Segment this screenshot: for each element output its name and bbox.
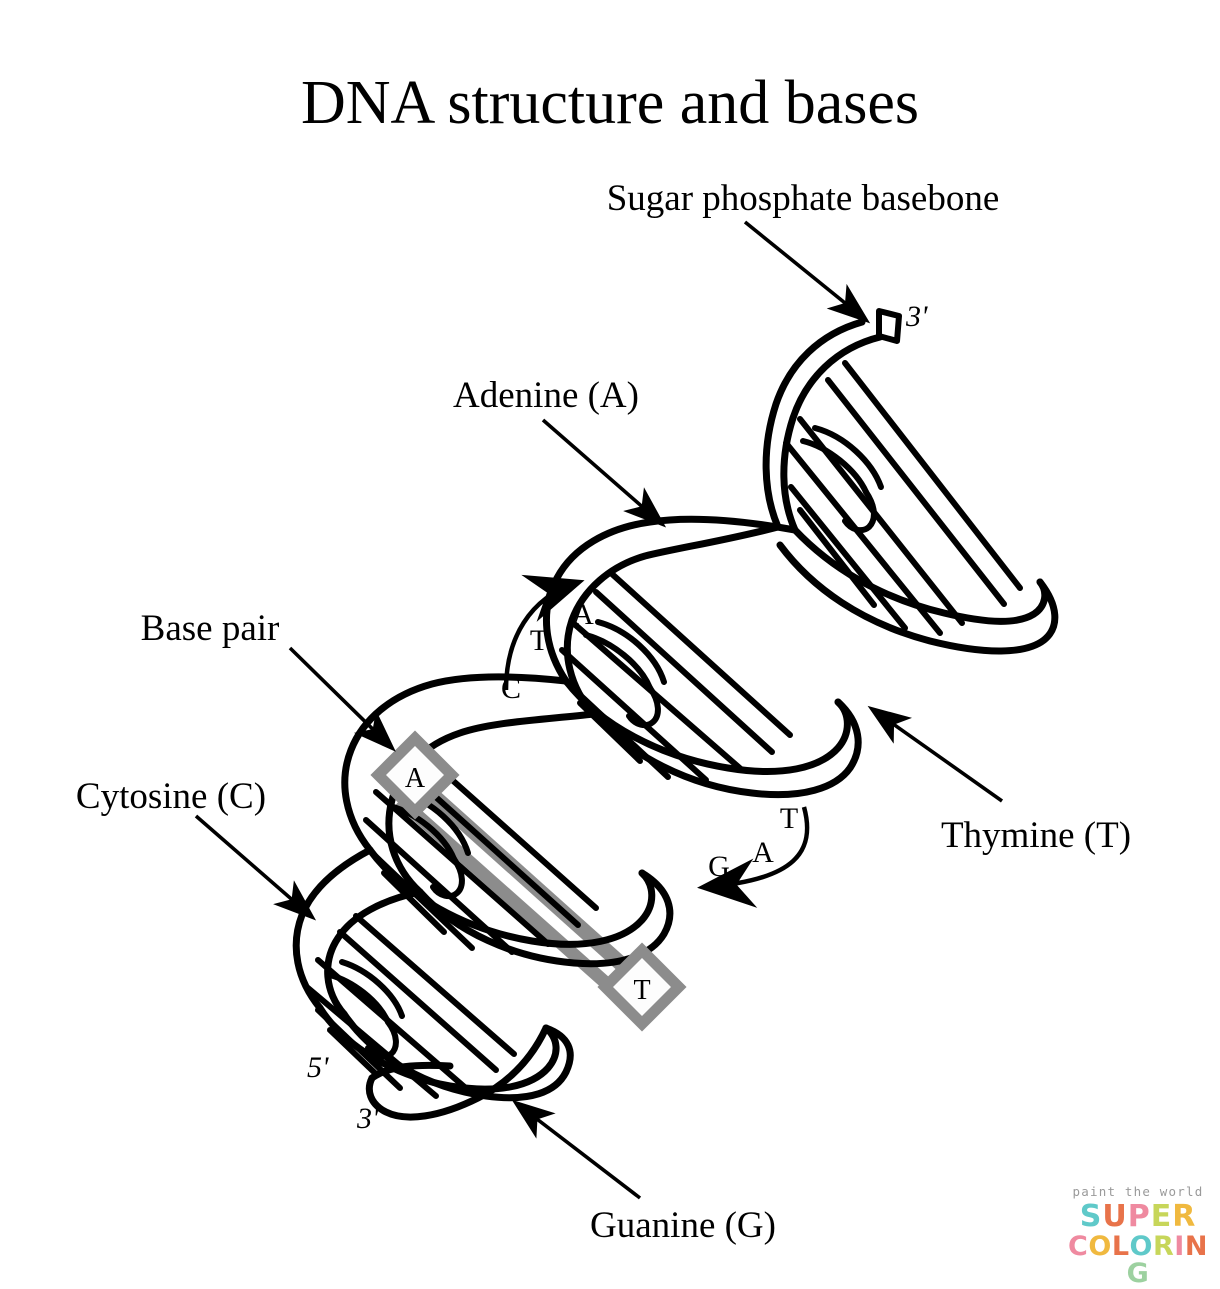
arc-letter-lower-a: A: [752, 836, 774, 869]
arrow-adenine: [543, 420, 662, 524]
arrow-base-pair: [290, 648, 392, 748]
arc-letter-lower-g: G: [708, 850, 730, 883]
arrow-thymine: [872, 709, 1002, 801]
helix-turn-second: [546, 519, 858, 794]
watermark-coloring: COLORING: [1062, 1233, 1214, 1287]
base-pair-marker-a-letter: A: [405, 763, 426, 794]
label-guanine: Guanine (G): [590, 1205, 776, 1246]
arc-letter-upper-a: A: [572, 598, 594, 631]
label-cytosine: Cytosine (C): [76, 776, 266, 817]
dna-diagram-canvas: DNA structure and bases: [0, 0, 1220, 1286]
arc-letter-upper-c: C: [501, 672, 521, 705]
helix-turn-top: [766, 311, 1055, 651]
base-pair-marker-t-letter: T: [633, 975, 650, 1006]
arrow-cytosine: [196, 816, 312, 917]
label-thymine: Thymine (T): [941, 815, 1131, 856]
strand-end-bottom-5prime: 5': [307, 1051, 329, 1084]
arrow-backbone: [745, 222, 866, 320]
watermark-super: SUPER: [1062, 1202, 1214, 1232]
strand-end-top-right: 3': [905, 300, 928, 333]
supercoloring-watermark: paint the world SUPER COLORING: [1062, 1186, 1214, 1278]
dna-illustration: DNA structure and bases: [0, 0, 1220, 1286]
page-title: DNA structure and bases: [301, 69, 919, 137]
helix-turn-third: [345, 677, 670, 964]
watermark-tagline: paint the world: [1062, 1186, 1214, 1199]
arc-letter-lower-t: T: [780, 802, 798, 835]
strand-end-bottom-3prime: 3': [356, 1102, 379, 1135]
label-base-pair: Base pair: [141, 608, 280, 649]
arrow-guanine: [516, 1103, 640, 1198]
label-adenine: Adenine (A): [453, 375, 639, 416]
label-sugar-phosphate-backbone: Sugar phosphate basebone: [607, 178, 1000, 219]
arc-letter-upper-t: T: [530, 624, 548, 657]
